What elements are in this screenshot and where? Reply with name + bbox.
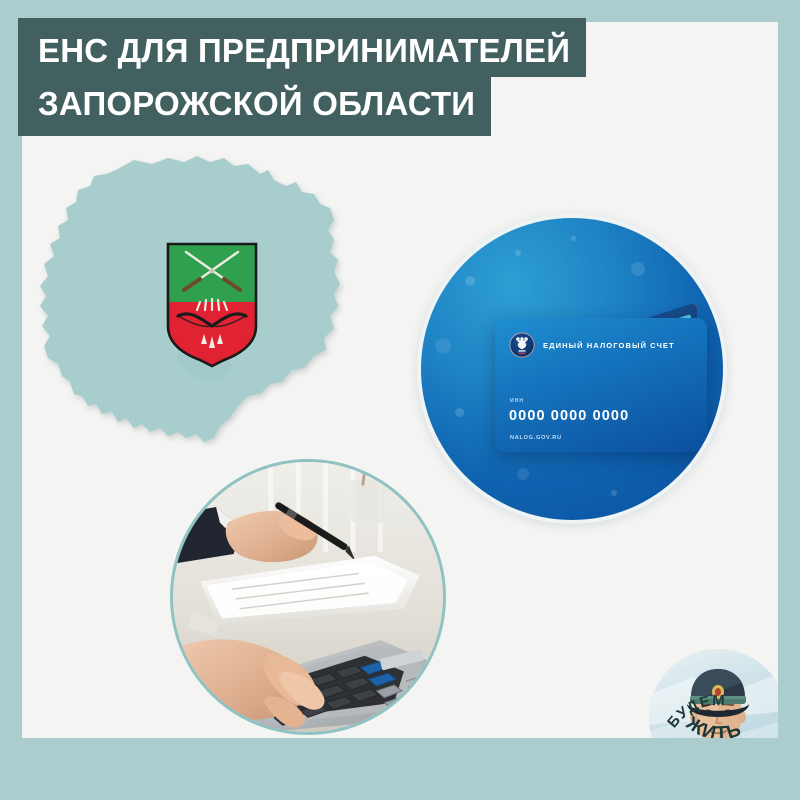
decor-bubble <box>571 236 576 241</box>
card-header: ЕДИНЫЙ НАЛОГОВЫЙ СЧЕТ <box>509 332 675 358</box>
card-inn-label: ИНН <box>510 398 524 404</box>
budem-zhit-badge: БУДЕМ ЖИТЬ <box>649 649 778 738</box>
page-title: ЕНС ДЛЯ ПРЕДПРИНИМАТЕЛЕЙ ЗАПОРОЖСКОЙ ОБЛ… <box>18 18 586 136</box>
decor-bubble <box>611 490 617 496</box>
fns-emblem-icon <box>509 332 535 358</box>
decor-bubble <box>455 408 464 417</box>
card-website-label: NALOG.GOV.RU <box>510 435 562 441</box>
card-number-value: 0000 0000 0000 <box>509 408 629 424</box>
ens-tax-account-card: ЕДИНЫЙ НАЛОГОВЫЙ СЧЕТ ИНН 0000 0000 0000… <box>495 318 707 452</box>
ens-card-circle: ЕДИНЫЙ НАЛОГОВЫЙ СЧЕТ ИНН 0000 0000 0000… <box>421 218 723 520</box>
title-line-1: ЕНС ДЛЯ ПРЕДПРИНИМАТЕЛЕЙ <box>18 18 586 77</box>
poster-root: ЕДИНЫЙ НАЛОГОВЫЙ СЧЕТ ИНН 0000 0000 0000… <box>0 0 800 800</box>
calculator-photo-circle <box>170 459 446 735</box>
coat-of-arms-zaporozhye <box>164 240 260 370</box>
decor-bubble <box>517 468 529 480</box>
card-title-label: ЕДИНЫЙ НАЛОГОВЫЙ СЧЕТ <box>543 341 675 350</box>
title-line-2: ЗАПОРОЖСКОЙ ОБЛАСТИ <box>18 77 491 136</box>
decor-bubble <box>515 250 521 256</box>
decor-bubble <box>465 276 475 286</box>
decor-bubble <box>435 338 451 354</box>
decor-bubble <box>631 262 645 276</box>
